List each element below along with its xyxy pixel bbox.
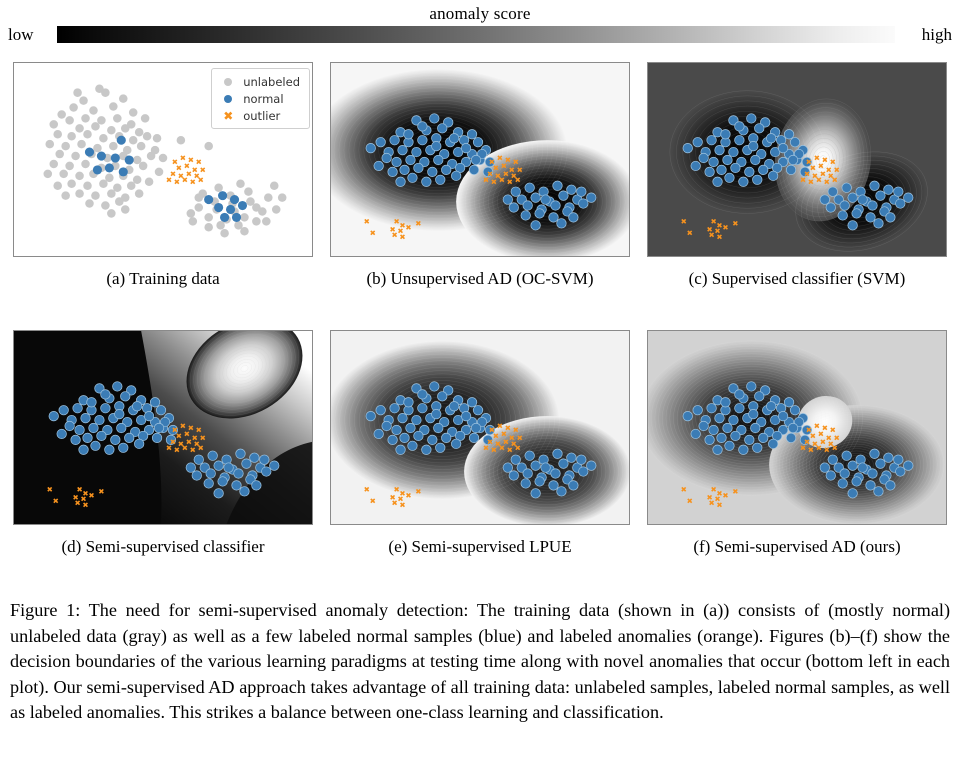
svg-text:✖: ✖ — [190, 177, 196, 186]
svg-text:✖: ✖ — [364, 217, 370, 226]
panel-cell-d: ✖✖✖✖✖✖✖✖✖✖✖✖✖✖✖✖✖✖✖✖✖✖✖✖✖✖✖ (d) Semi-sup… — [13, 330, 313, 557]
svg-text:✖: ✖ — [74, 499, 80, 508]
outlier-x-icon: ✖ — [219, 110, 237, 122]
colorbar: low high — [0, 24, 960, 46]
svg-text:✖: ✖ — [182, 443, 188, 452]
svg-text:✖: ✖ — [47, 485, 53, 494]
svg-text:✖: ✖ — [517, 165, 523, 174]
colorbar-gradient — [57, 26, 895, 43]
svg-text:✖: ✖ — [708, 499, 714, 508]
svg-text:✖: ✖ — [832, 443, 838, 452]
svg-text:✖: ✖ — [687, 229, 693, 238]
colorbar-low-label: low — [8, 25, 34, 45]
unlabeled-circle-icon — [219, 75, 237, 89]
svg-text:✖: ✖ — [808, 445, 814, 454]
panel-e-semi-supervised-lpue[interactable]: ✖✖✖✖✖✖✖✖✖✖✖✖✖✖✖✖✖✖✖✖✖✖✖✖✖✖✖ — [330, 330, 630, 525]
svg-text:✖: ✖ — [166, 175, 172, 184]
svg-text:✖: ✖ — [834, 433, 840, 442]
svg-text:✖: ✖ — [364, 485, 370, 494]
colorbar-high-label: high — [922, 25, 952, 45]
svg-text:✖: ✖ — [824, 177, 830, 186]
panel-e-plot: ✖✖✖✖✖✖✖✖✖✖✖✖✖✖✖✖✖✖✖✖✖✖✖✖✖✖✖ — [331, 331, 629, 524]
figure-caption: Figure 1: The need for semi-supervised a… — [10, 598, 950, 726]
svg-text:✖: ✖ — [182, 175, 188, 184]
svg-text:✖: ✖ — [824, 445, 830, 454]
svg-text:✖: ✖ — [491, 445, 497, 454]
svg-text:✖: ✖ — [800, 443, 806, 452]
svg-text:✖: ✖ — [88, 491, 94, 500]
panel-d-semi-supervised-classifier[interactable]: ✖✖✖✖✖✖✖✖✖✖✖✖✖✖✖✖✖✖✖✖✖✖✖✖✖✖✖ — [13, 330, 313, 525]
svg-text:✖: ✖ — [174, 177, 180, 186]
svg-text:✖: ✖ — [681, 485, 687, 494]
svg-text:✖: ✖ — [716, 233, 722, 242]
svg-text:✖: ✖ — [405, 491, 411, 500]
svg-text:✖: ✖ — [832, 175, 838, 184]
svg-text:✖: ✖ — [816, 175, 822, 184]
svg-text:✖: ✖ — [517, 433, 523, 442]
colorbar-title: anomaly score — [0, 4, 960, 24]
svg-text:✖: ✖ — [415, 487, 421, 496]
panel-cell-b: ✖✖✖✖✖✖✖✖✖✖✖✖✖✖✖✖✖✖✖✖✖✖✖✖✖✖✖ (b) Unsuperv… — [330, 62, 630, 289]
legend-item-outlier: ✖ outlier — [219, 108, 300, 123]
panel-f-semi-supervised-ad[interactable]: ✖✖✖✖✖✖✖✖✖✖✖✖✖✖✖✖✖✖✖✖✖✖✖✖✖✖✖ — [647, 330, 947, 525]
panel-caption-d: (d) Semi-supervised classifier — [13, 537, 313, 557]
svg-text:✖: ✖ — [515, 443, 521, 452]
svg-text:✖: ✖ — [198, 443, 204, 452]
svg-text:✖: ✖ — [82, 501, 88, 510]
panel-d-plot: ✖✖✖✖✖✖✖✖✖✖✖✖✖✖✖✖✖✖✖✖✖✖✖✖✖✖✖ — [14, 331, 312, 524]
svg-text:✖: ✖ — [681, 217, 687, 226]
panel-cell-f: ✖✖✖✖✖✖✖✖✖✖✖✖✖✖✖✖✖✖✖✖✖✖✖✖✖✖✖ (f) Semi-sup… — [647, 330, 947, 557]
panel-caption-e: (e) Semi-supervised LPUE — [330, 537, 630, 557]
svg-text:✖: ✖ — [370, 229, 376, 238]
legend-label-unlabeled: unlabeled — [243, 75, 300, 89]
svg-text:✖: ✖ — [708, 231, 714, 240]
legend-label-normal: normal — [243, 92, 283, 106]
panel-cell-a: ✖✖✖✖✖✖✖✖✖✖✖✖✖✖✖✖✖ unlabeled normal ✖ — [13, 62, 313, 289]
panel-cell-e: ✖✖✖✖✖✖✖✖✖✖✖✖✖✖✖✖✖✖✖✖✖✖✖✖✖✖✖ (e) Semi-sup… — [330, 330, 630, 557]
svg-text:✖: ✖ — [200, 165, 206, 174]
panel-caption-a: (a) Training data — [13, 269, 313, 289]
svg-text:✖: ✖ — [732, 219, 738, 228]
panel-b-unsupervised-ad[interactable]: ✖✖✖✖✖✖✖✖✖✖✖✖✖✖✖✖✖✖✖✖✖✖✖✖✖✖✖ — [330, 62, 630, 257]
svg-text:✖: ✖ — [200, 433, 206, 442]
figure-page: anomaly score low high ✖✖✖✖✖✖✖✖✖✖✖✖✖✖✖✖✖ — [0, 0, 960, 760]
svg-text:✖: ✖ — [722, 491, 728, 500]
svg-text:✖: ✖ — [370, 497, 376, 506]
panel-row-top: ✖✖✖✖✖✖✖✖✖✖✖✖✖✖✖✖✖ unlabeled normal ✖ — [0, 62, 960, 326]
panel-caption-b: (b) Unsupervised AD (OC-SVM) — [330, 269, 630, 289]
svg-text:✖: ✖ — [732, 487, 738, 496]
svg-text:✖: ✖ — [190, 445, 196, 454]
legend-label-outlier: outlier — [243, 109, 280, 123]
panel-b-plot: ✖✖✖✖✖✖✖✖✖✖✖✖✖✖✖✖✖✖✖✖✖✖✖✖✖✖✖ — [331, 63, 629, 256]
svg-text:✖: ✖ — [166, 443, 172, 452]
svg-text:✖: ✖ — [399, 501, 405, 510]
panel-a-training-data[interactable]: ✖✖✖✖✖✖✖✖✖✖✖✖✖✖✖✖✖ unlabeled normal ✖ — [13, 62, 313, 257]
svg-text:✖: ✖ — [515, 175, 521, 184]
svg-text:✖: ✖ — [687, 497, 693, 506]
svg-text:✖: ✖ — [499, 175, 505, 184]
svg-text:✖: ✖ — [800, 175, 806, 184]
svg-text:✖: ✖ — [198, 175, 204, 184]
svg-text:✖: ✖ — [53, 497, 59, 506]
svg-text:✖: ✖ — [816, 443, 822, 452]
svg-text:✖: ✖ — [491, 177, 497, 186]
normal-circle-icon — [219, 92, 237, 106]
panel-c-supervised-classifier[interactable]: ✖✖✖✖✖✖✖✖✖✖✖✖✖✖✖✖✖✖✖✖✖✖✖✖✖✖✖ — [647, 62, 947, 257]
panel-cell-c: ✖✖✖✖✖✖✖✖✖✖✖✖✖✖✖✖✖✖✖✖✖✖✖✖✖✖✖ (c) Supervis… — [647, 62, 947, 289]
panel-f-plot: ✖✖✖✖✖✖✖✖✖✖✖✖✖✖✖✖✖✖✖✖✖✖✖✖✖✖✖ — [648, 331, 946, 524]
svg-text:✖: ✖ — [808, 177, 814, 186]
svg-text:✖: ✖ — [391, 231, 397, 240]
svg-text:✖: ✖ — [415, 219, 421, 228]
svg-text:✖: ✖ — [834, 165, 840, 174]
panel-c-plot: ✖✖✖✖✖✖✖✖✖✖✖✖✖✖✖✖✖✖✖✖✖✖✖✖✖✖✖ — [648, 63, 946, 256]
svg-text:✖: ✖ — [483, 443, 489, 452]
legend: unlabeled normal ✖ outlier — [211, 68, 310, 129]
svg-text:✖: ✖ — [507, 177, 513, 186]
svg-text:✖: ✖ — [399, 233, 405, 242]
svg-text:✖: ✖ — [499, 443, 505, 452]
panel-row-bottom: ✖✖✖✖✖✖✖✖✖✖✖✖✖✖✖✖✖✖✖✖✖✖✖✖✖✖✖ (d) Semi-sup… — [0, 330, 960, 594]
svg-text:✖: ✖ — [391, 499, 397, 508]
svg-text:✖: ✖ — [405, 223, 411, 232]
svg-text:✖: ✖ — [716, 501, 722, 510]
svg-text:✖: ✖ — [174, 445, 180, 454]
panel-caption-f: (f) Semi-supervised AD (ours) — [647, 537, 947, 557]
svg-text:✖: ✖ — [483, 175, 489, 184]
svg-text:✖: ✖ — [722, 223, 728, 232]
svg-text:✖: ✖ — [507, 445, 513, 454]
panel-grid: ✖✖✖✖✖✖✖✖✖✖✖✖✖✖✖✖✖ unlabeled normal ✖ — [0, 62, 960, 594]
legend-item-normal: normal — [219, 91, 300, 106]
panel-caption-c: (c) Supervised classifier (SVM) — [647, 269, 947, 289]
legend-item-unlabeled: unlabeled — [219, 74, 300, 89]
svg-text:✖: ✖ — [98, 487, 104, 496]
